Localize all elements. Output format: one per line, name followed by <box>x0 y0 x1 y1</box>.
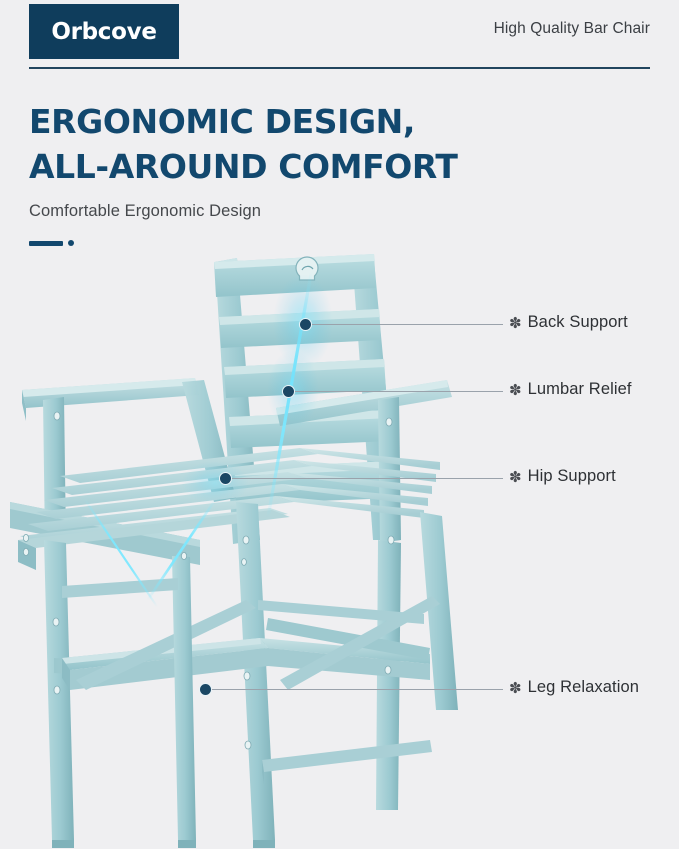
page-subtitle: Comfortable Ergonomic Design <box>29 202 458 221</box>
leader-dot-hip-support <box>219 472 232 485</box>
asterisk-icon: ✽ <box>509 681 522 696</box>
page-header: Orbcove High Quality Bar Chair <box>0 0 679 68</box>
header-tagline: High Quality Bar Chair <box>494 20 650 38</box>
callout-hip-support: ✽ Hip Support <box>509 467 616 486</box>
title-block: ERGONOMIC DESIGN, ALL-AROUND COMFORT Com… <box>29 99 458 246</box>
callout-lumbar-relief: ✽ Lumbar Relief <box>509 380 632 399</box>
leader-line-hip-support <box>225 478 503 479</box>
leader-dot-leg-relaxation <box>199 683 212 696</box>
leader-line-leg-relaxation <box>205 689 503 690</box>
leader-dot-back-support <box>299 318 312 331</box>
callout-leg-relaxation: ✽ Leg Relaxation <box>509 678 639 697</box>
brand-logo: Orbcove <box>29 4 179 59</box>
callout-label-lumbar-relief: Lumbar Relief <box>528 380 632 399</box>
brand-logo-text: Orbcove <box>51 19 156 45</box>
asterisk-icon: ✽ <box>509 383 522 398</box>
page-title-line-1: ERGONOMIC DESIGN, <box>29 102 415 141</box>
leader-line-back-support <box>305 324 503 325</box>
product-stage: ✽ Back Support ✽ Lumbar Relief ✽ Hip Sup… <box>0 240 679 849</box>
page-title: ERGONOMIC DESIGN, ALL-AROUND COMFORT <box>29 99 458 189</box>
asterisk-icon: ✽ <box>509 316 522 331</box>
leader-line-lumbar-relief <box>288 391 503 392</box>
callout-label-back-support: Back Support <box>528 313 628 332</box>
callout-back-support: ✽ Back Support <box>509 313 628 332</box>
infographic-page: Orbcove High Quality Bar Chair ERGONOMIC… <box>0 0 679 849</box>
header-divider <box>29 67 650 69</box>
page-title-line-2: ALL-AROUND COMFORT <box>29 144 458 189</box>
callout-label-hip-support: Hip Support <box>528 467 616 486</box>
callout-label-leg-relaxation: Leg Relaxation <box>528 678 639 697</box>
leader-dot-lumbar-relief <box>282 385 295 398</box>
asterisk-icon: ✽ <box>509 470 522 485</box>
